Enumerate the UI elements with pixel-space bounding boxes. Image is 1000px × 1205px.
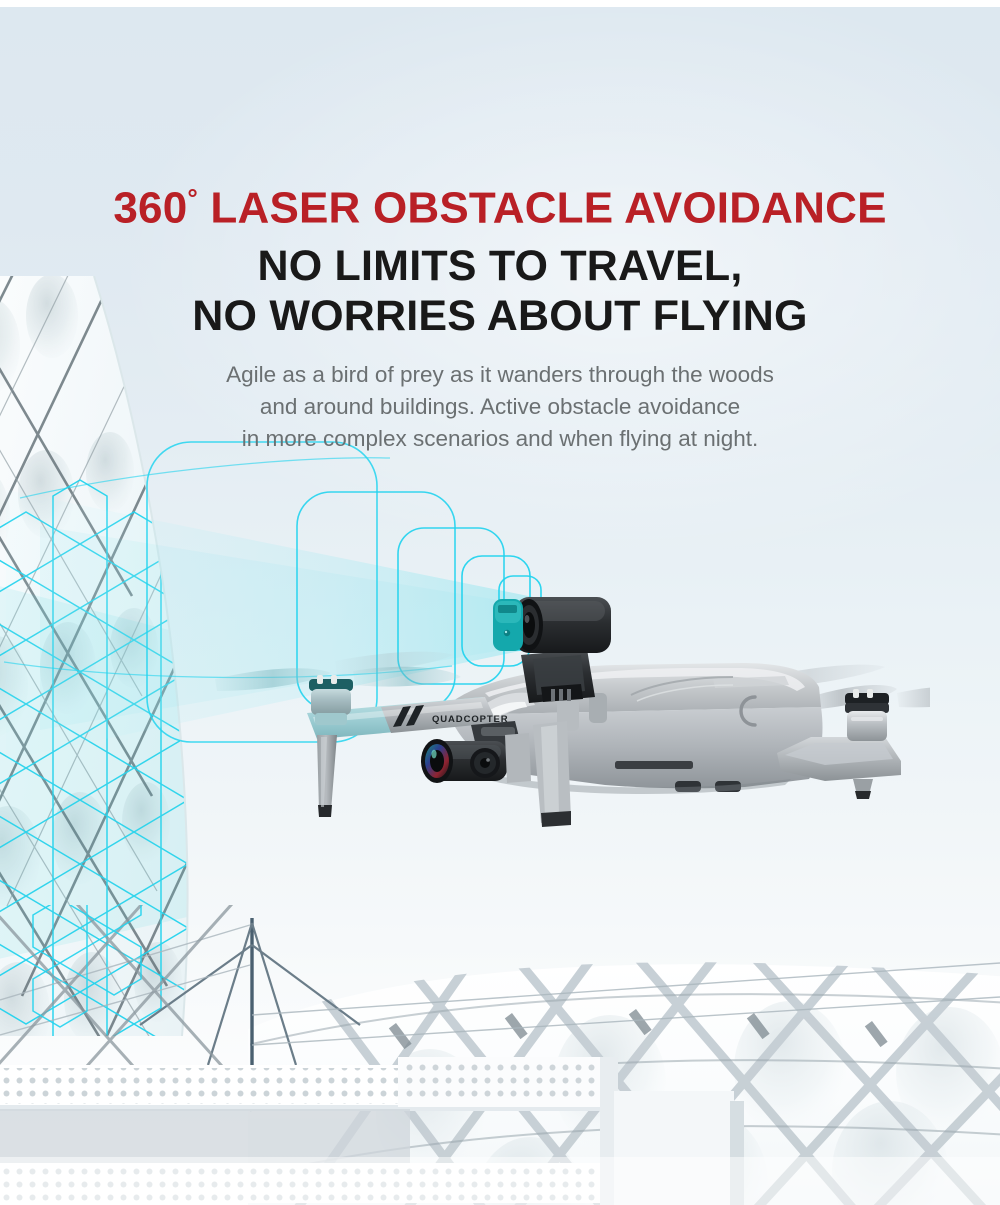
headline-primary: 360° LASER OBSTACLE AVOIDANCE <box>0 170 1000 237</box>
subcopy-line-2: and around buildings. Active obstacle av… <box>0 391 1000 423</box>
motor-rear <box>845 689 889 741</box>
motor-front <box>309 675 353 725</box>
headline-block: 360° LASER OBSTACLE AVOIDANCE NO LIMITS … <box>0 170 1000 455</box>
degree-symbol: ° <box>187 183 198 213</box>
landing-leg-front <box>317 735 337 817</box>
top-white-strip <box>0 0 1000 7</box>
promo-banner: QUADCOPTER <box>0 0 1000 1205</box>
gimbal-camera <box>421 721 531 783</box>
headline-360: 360 <box>113 184 187 233</box>
headline-line-3: NO WORRIES ABOUT FLYING <box>0 289 1000 343</box>
headline-line-2: NO LIMITS TO TRAVEL, <box>0 239 1000 293</box>
headline-primary-rest: LASER OBSTACLE AVOIDANCE <box>198 184 887 233</box>
drone-quadcopter: QUADCOPTER <box>185 575 930 840</box>
bottom-building <box>0 905 1000 1205</box>
landing-leg-center <box>533 721 571 827</box>
subcopy-line-1: Agile as a bird of prey as it wanders th… <box>0 359 1000 391</box>
subcopy-line-3: in more complex scenarios and when flyin… <box>0 423 1000 455</box>
